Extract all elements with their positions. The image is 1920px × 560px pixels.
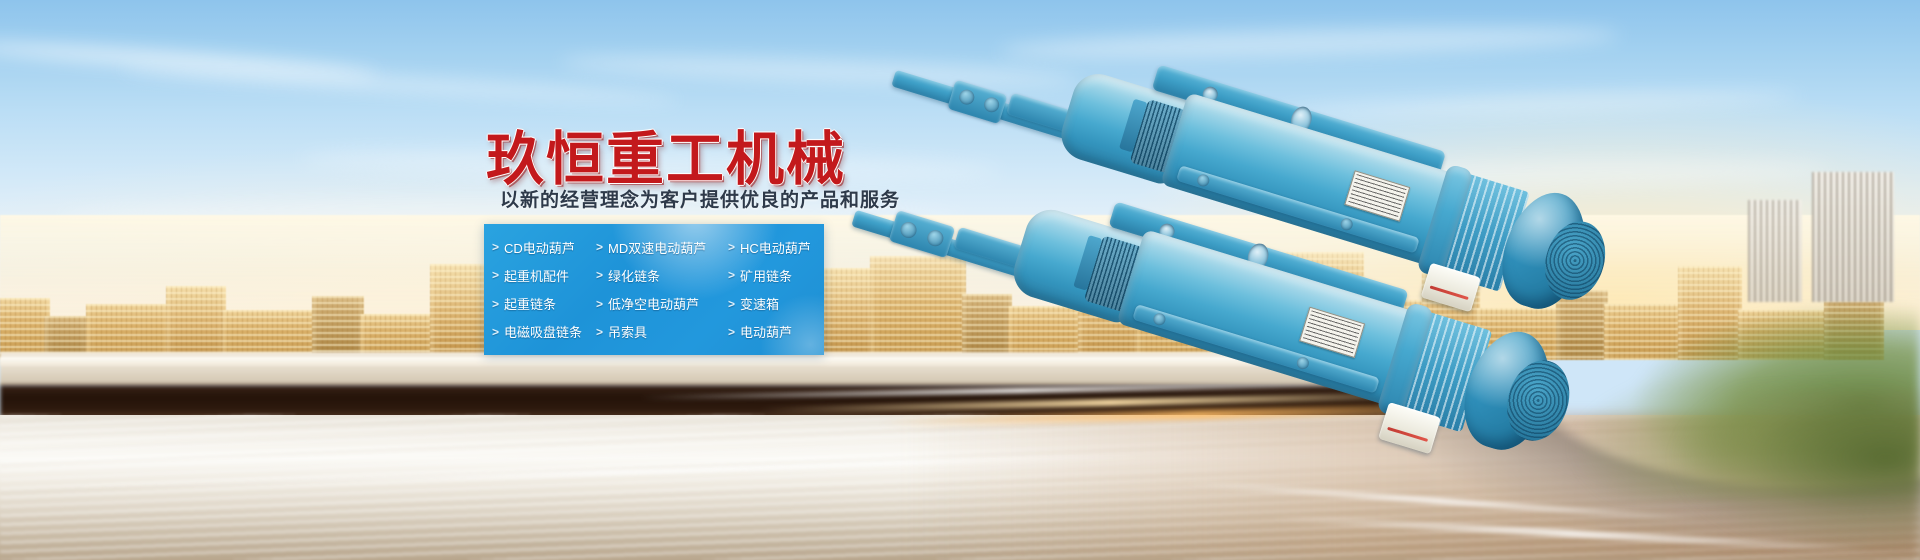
chevron-right-icon: > [596,325,603,339]
distant-tower [1748,200,1802,302]
hero-banner: 玖恒重工机械 以新的经营理念为客户提供优良的产品和服务 > CD电动葫芦 > M… [0,0,1920,560]
product-category-grid: > CD电动葫芦 > MD双速电动葫芦 > HC电动葫芦 > 起重机配件 > 绿… [484,224,824,355]
category-link-slings[interactable]: > 吊索具 [596,322,728,341]
chevron-right-icon: > [596,240,603,254]
category-link-crane-parts[interactable]: > 起重机配件 [492,266,596,285]
category-label: 起重链条 [504,294,556,313]
category-link-low-headroom-hoist[interactable]: > 低净空电动葫芦 [596,294,728,313]
chevron-right-icon: > [728,240,735,254]
category-label: 电磁吸盘链条 [504,322,582,341]
category-label: 低净空电动葫芦 [608,294,699,313]
chevron-right-icon: > [492,268,499,282]
category-link-green-chain[interactable]: > 绿化链条 [596,266,728,285]
category-link-magnetic-chuck-chain[interactable]: > 电磁吸盘链条 [492,322,596,341]
category-link-mining-chain[interactable]: > 矿用链条 [728,266,832,285]
category-link-md-dual-speed-hoist[interactable]: > MD双速电动葫芦 [596,238,728,257]
category-label: 变速箱 [740,294,779,313]
chevron-right-icon: > [596,268,603,282]
category-label: MD双速电动葫芦 [608,238,706,257]
category-link-electric-hoist[interactable]: > 电动葫芦 [728,322,832,341]
chevron-right-icon: > [492,297,499,311]
category-link-lifting-chain[interactable]: > 起重链条 [492,294,596,313]
category-link-cd-hoist[interactable]: > CD电动葫芦 [492,238,596,257]
category-link-hc-hoist[interactable]: > HC电动葫芦 [728,238,832,257]
chevron-right-icon: > [492,325,499,339]
category-label: 吊索具 [608,322,647,341]
category-label: HC电动葫芦 [740,238,811,257]
category-link-gearbox[interactable]: > 变速箱 [728,294,832,313]
distant-tower [1812,172,1894,302]
page-subtitle: 以新的经营理念为客户提供优良的产品和服务 [500,185,900,212]
category-label: 起重机配件 [504,266,569,285]
category-label: 绿化链条 [608,266,660,285]
product-category-panel: > CD电动葫芦 > MD双速电动葫芦 > HC电动葫芦 > 起重机配件 > 绿… [484,224,824,355]
category-label: 电动葫芦 [740,322,792,341]
chevron-right-icon: > [728,268,735,282]
chevron-right-icon: > [596,297,603,311]
page-title: 玖恒重工机械 [486,112,846,196]
category-label: CD电动葫芦 [504,238,575,257]
chevron-right-icon: > [728,325,735,339]
chevron-right-icon: > [492,240,499,254]
category-label: 矿用链条 [740,266,792,285]
chevron-right-icon: > [728,297,735,311]
